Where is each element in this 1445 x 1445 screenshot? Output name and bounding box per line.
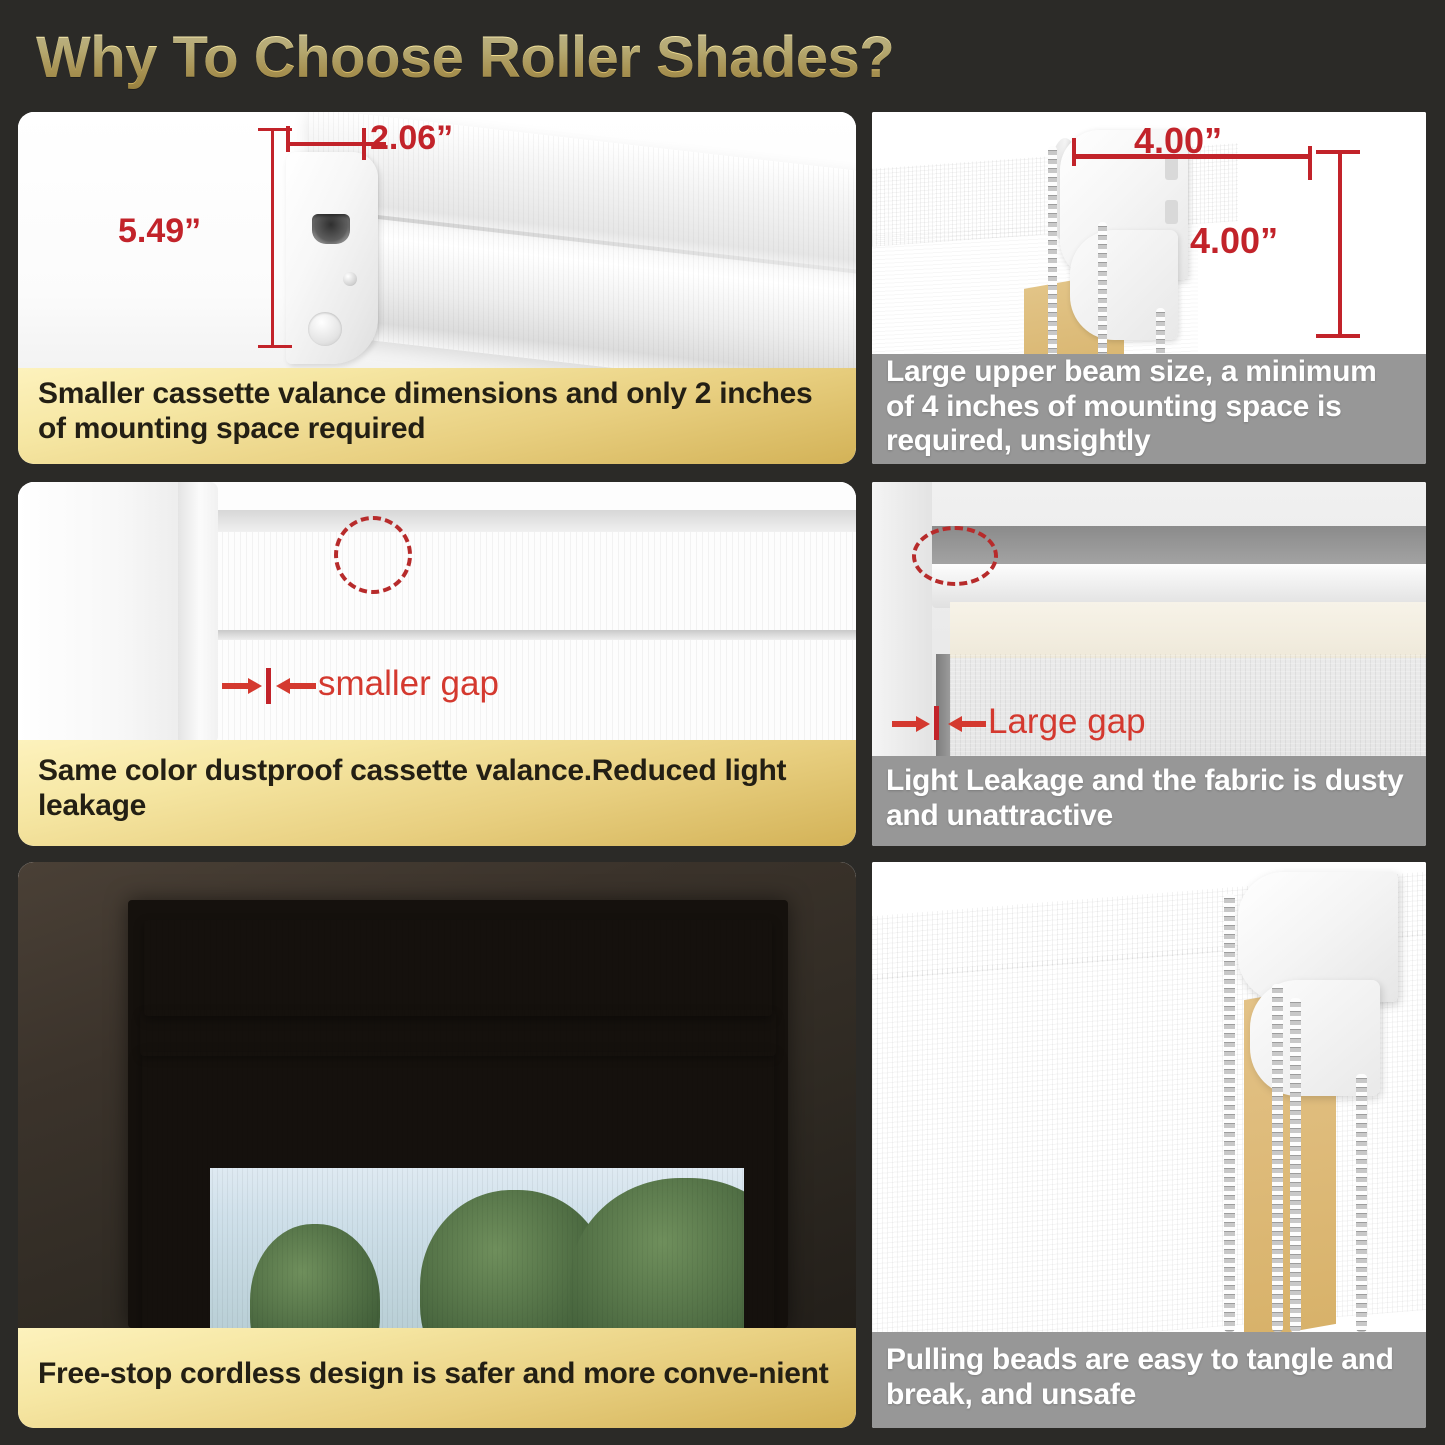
bead-chain-4 xyxy=(1356,1074,1367,1332)
highlight-circle xyxy=(334,516,412,594)
window-opening xyxy=(128,900,788,1328)
shadow-band xyxy=(932,526,1426,568)
smaller-gap-label: smaller gap xyxy=(318,664,499,704)
gap-arrow-left-icon xyxy=(222,676,262,696)
bead-chain-3 xyxy=(1290,998,1301,1332)
beam-height-tick-top xyxy=(1316,150,1360,154)
panel-caption: Large upper beam size, a minimum of 4 in… xyxy=(872,354,1426,464)
panel-caption: Light Leakage and the fabric is dusty an… xyxy=(872,756,1426,846)
cassette-valance-photo: 2.06” 5.49” xyxy=(18,112,856,374)
shade-head-rail xyxy=(216,510,856,532)
beam-height-label: 4.00” xyxy=(1190,220,1278,262)
panel-light-leakage: Large gap Light Leakage and the fabric i… xyxy=(872,482,1426,846)
panel-caption-text: Pulling beads are easy to tangle and bre… xyxy=(886,1343,1412,1413)
panel-caption-text: Smaller cassette valance dimensions and … xyxy=(38,377,836,447)
width-dimension-label: 2.06” xyxy=(370,119,453,158)
shade-fabric xyxy=(142,1052,774,1328)
gap-arrow-left-icon xyxy=(892,714,930,734)
panel-cassette-dimensions: 2.06” 5.49” Smaller cassette valance dim… xyxy=(18,112,856,464)
panel-cordless-design: Free-stop cordless design is safer and m… xyxy=(18,862,856,1428)
end-cap-slot xyxy=(312,214,350,244)
window-frame-outer xyxy=(18,482,193,744)
height-dim-tick-top xyxy=(258,128,292,131)
shade-mid-rail xyxy=(216,630,856,640)
window-frame-inner xyxy=(178,482,218,744)
cream-fabric-strip xyxy=(950,602,1426,658)
beam-width-tick-right xyxy=(1308,146,1312,180)
panel-large-beam: 4.00” 4.00” Large upper beam size, a min… xyxy=(872,112,1426,464)
panel-caption: Free-stop cordless design is safer and m… xyxy=(18,1328,856,1428)
gap-arrow-right-icon xyxy=(276,676,316,696)
bead-chain-1 xyxy=(1224,894,1235,1332)
panel-smaller-gap: smaller gap Same color dustproof cassett… xyxy=(18,482,856,846)
cordless-design-photo xyxy=(18,862,856,1328)
smaller-gap-photo: smaller gap xyxy=(18,482,856,744)
large-gap-label: Large gap xyxy=(988,702,1146,742)
panel-pulling-beads: Pulling beads are easy to tangle and bre… xyxy=(872,862,1426,1428)
bead-chain-right xyxy=(1098,222,1107,370)
width-dim-tick-right xyxy=(362,128,366,160)
height-dim-bar xyxy=(271,130,274,348)
bead-chain-left xyxy=(1048,146,1057,370)
large-beam-photo: 4.00” 4.00” xyxy=(872,112,1426,370)
infographic-root: Why To Choose Roller Shades? 2.06” 5.49” xyxy=(0,0,1445,1445)
beam-width-label: 4.00” xyxy=(1134,120,1222,162)
gap-marker xyxy=(266,668,271,704)
valance-lip xyxy=(140,1010,776,1056)
height-dimension-label: 5.49” xyxy=(118,212,201,251)
end-cap-knob xyxy=(308,312,342,346)
gap-arrow-right-icon xyxy=(948,714,986,734)
highlight-circle xyxy=(912,526,998,586)
gap-shadow-edge xyxy=(936,654,950,756)
valance-end-cap xyxy=(286,152,378,364)
cassette-valance xyxy=(144,920,772,1016)
gap-marker xyxy=(934,706,939,740)
bead-chain-2 xyxy=(1272,984,1283,1332)
panel-caption: Pulling beads are easy to tangle and bre… xyxy=(872,1332,1426,1428)
panel-caption-text: Light Leakage and the fabric is dusty an… xyxy=(886,764,1412,834)
panel-caption-text: Same color dustproof cassette valance.Re… xyxy=(38,754,836,824)
pulling-beads-photo xyxy=(872,862,1426,1332)
height-dim-tick-bottom xyxy=(258,345,292,348)
beam-width-tick-left xyxy=(1072,138,1076,166)
panel-caption: Smaller cassette valance dimensions and … xyxy=(18,368,856,464)
page-title: Why To Choose Roller Shades? xyxy=(36,24,894,91)
beam-height-bar xyxy=(1338,150,1342,338)
light-leakage-photo: Large gap xyxy=(872,482,1426,756)
panel-caption-text: Free-stop cordless design is safer and m… xyxy=(38,1357,828,1392)
end-cap-screw xyxy=(343,272,357,286)
beam-height-tick-bottom xyxy=(1316,334,1360,338)
panel-caption: Same color dustproof cassette valance.Re… xyxy=(18,740,856,846)
panel-caption-text: Large upper beam size, a minimum of 4 in… xyxy=(886,355,1412,459)
